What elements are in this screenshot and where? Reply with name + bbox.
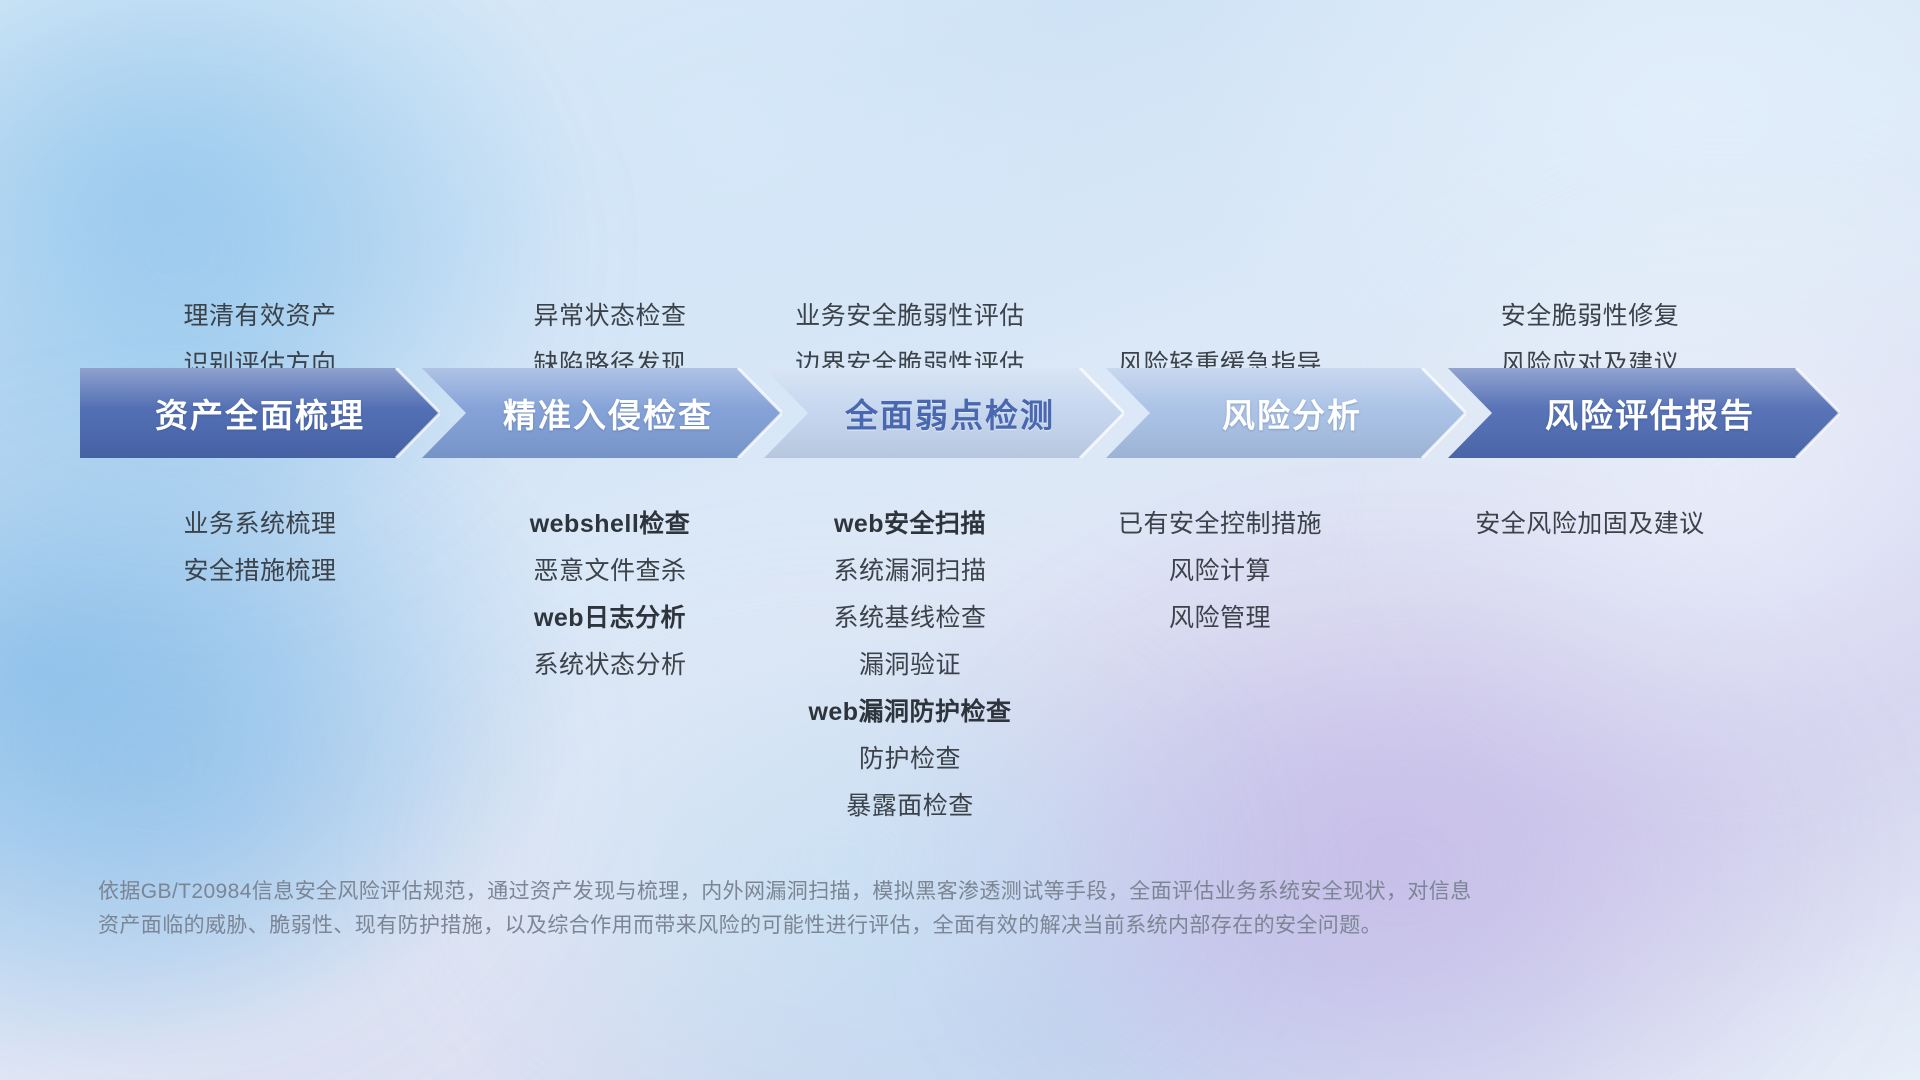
stage-bottom-list-risk-analysis: 已有安全控制措施风险计算风险管理 — [1040, 508, 1400, 634]
process-chevron-band: 资产全面梳理精准入侵检查全面弱点检测风险分析风险评估报告 — [80, 368, 1840, 458]
process-step-title: 风险分析 — [1222, 389, 1362, 437]
process-step-weakness-detection[interactable]: 全面弱点检测 — [764, 368, 1124, 458]
bottom-item: 风险管理 — [1040, 602, 1400, 634]
process-step-assessment-report[interactable]: 风险评估报告 — [1448, 368, 1840, 458]
footer-description: 依据GB/T20984信息安全风险评估规范，通过资产发现与梳理，内外网漏洞扫描，… — [98, 875, 1598, 943]
process-step-title: 全面弱点检测 — [845, 389, 1055, 437]
bottom-item: 业务系统梳理 — [80, 508, 440, 540]
bottom-item: 安全措施梳理 — [80, 555, 440, 587]
top-item: 安全脆弱性修复 — [1380, 300, 1800, 332]
stage-bottom-list-assessment-report: 安全风险加固及建议 — [1380, 508, 1800, 540]
slide-canvas: 理清有效资产识别评估方向业务系统梳理安全措施梳理异常状态检查缺陷路径发现webs… — [0, 0, 1920, 1080]
top-item: 理清有效资产 — [80, 300, 440, 332]
process-step-risk-analysis[interactable]: 风险分析 — [1106, 368, 1466, 458]
process-step-title: 精准入侵检查 — [503, 389, 713, 437]
process-step-intrusion-check[interactable]: 精准入侵检查 — [422, 368, 782, 458]
process-step-title: 风险评估报告 — [1545, 389, 1755, 437]
process-step-title: 资产全面梳理 — [155, 389, 365, 437]
bottom-item: 已有安全控制措施 — [1040, 508, 1400, 540]
bottom-item: 安全风险加固及建议 — [1380, 508, 1800, 540]
stage-bottom-list-asset-inventory: 业务系统梳理安全措施梳理 — [80, 508, 440, 587]
process-step-asset-inventory[interactable]: 资产全面梳理 — [80, 368, 440, 458]
footer-line-1: 依据GB/T20984信息安全风险评估规范，通过资产发现与梳理，内外网漏洞扫描，… — [98, 875, 1598, 909]
footer-line-2: 资产面临的威胁、脆弱性、现有防护措施，以及综合作用而带来风险的可能性进行评估，全… — [98, 909, 1598, 943]
bottom-item: 风险计算 — [1040, 555, 1400, 587]
